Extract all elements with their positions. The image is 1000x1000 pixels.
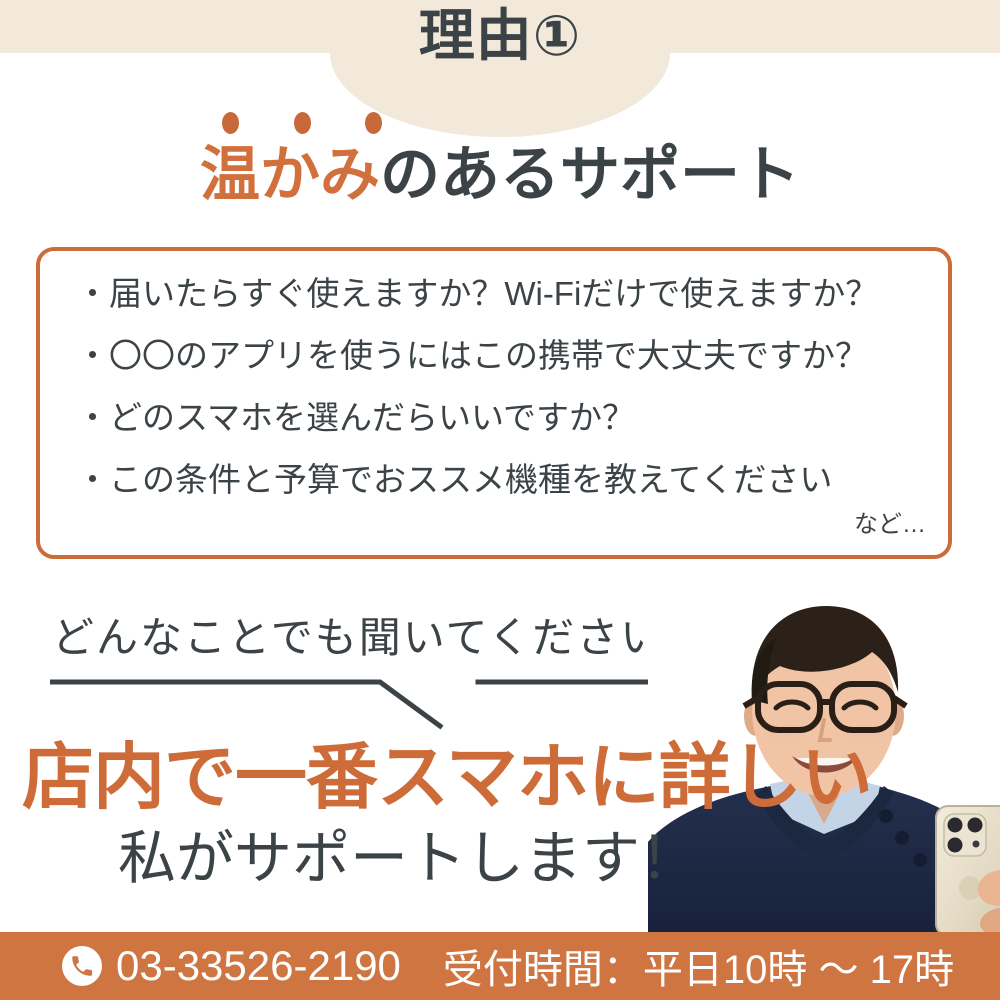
etc-label: など… <box>854 504 926 539</box>
page-title: 店内で一番スマホに詳しい <box>22 742 872 814</box>
apple-logo-icon <box>959 876 981 900</box>
list-item: ・〇〇のアプリを使うにはこの携帯で大丈夫ですか？ <box>76 339 928 372</box>
section-subtitle: 温かみのあるサポート <box>0 142 1000 208</box>
business-hours: 受付時間：平日10時 〜 17時 <box>443 937 954 995</box>
subtitle-highlight: 温かみ <box>200 141 380 208</box>
ask-anything-text: どんなことでも聞いてください！ <box>52 604 708 665</box>
header-title: 理由① <box>0 8 1000 64</box>
promotional-poster: 理由① 温かみのあるサポート ・届いたらすぐ使えますか？Wi-Fiだけで使えます… <box>0 0 1000 1000</box>
subtitle-rest: のあるサポート <box>380 141 800 208</box>
emphasis-dot-1 <box>222 112 239 134</box>
list-item: ・この条件と予算でおススメ機種を教えてください <box>76 463 928 496</box>
phone-icon <box>62 946 102 986</box>
list-item: ・届いたらすぐ使えますか？Wi-Fiだけで使えますか？ <box>76 277 928 310</box>
question-box: ・届いたらすぐ使えますか？Wi-Fiだけで使えますか？ ・〇〇のアプリを使うには… <box>36 247 952 559</box>
sweater-button <box>913 853 927 867</box>
emphasis-dots <box>222 112 382 134</box>
phone-number[interactable]: 03-33526-2190 <box>116 942 401 990</box>
list-item: ・どのスマホを選んだらいいですか？ <box>76 401 928 434</box>
emphasis-dot-2 <box>294 112 311 134</box>
sweater-button <box>879 809 893 823</box>
sweater-button <box>895 831 909 845</box>
emphasis-dot-3 <box>365 112 382 134</box>
speech-bubble-underline-icon <box>50 670 660 730</box>
question-list: ・届いたらすぐ使えますか？Wi-Fiだけで使えますか？ ・〇〇のアプリを使うには… <box>76 277 928 496</box>
page-subtitle: 私がサポートします！ <box>118 830 698 888</box>
contact-footer: 03-33526-2190 受付時間：平日10時 〜 17時 <box>0 932 1000 1000</box>
